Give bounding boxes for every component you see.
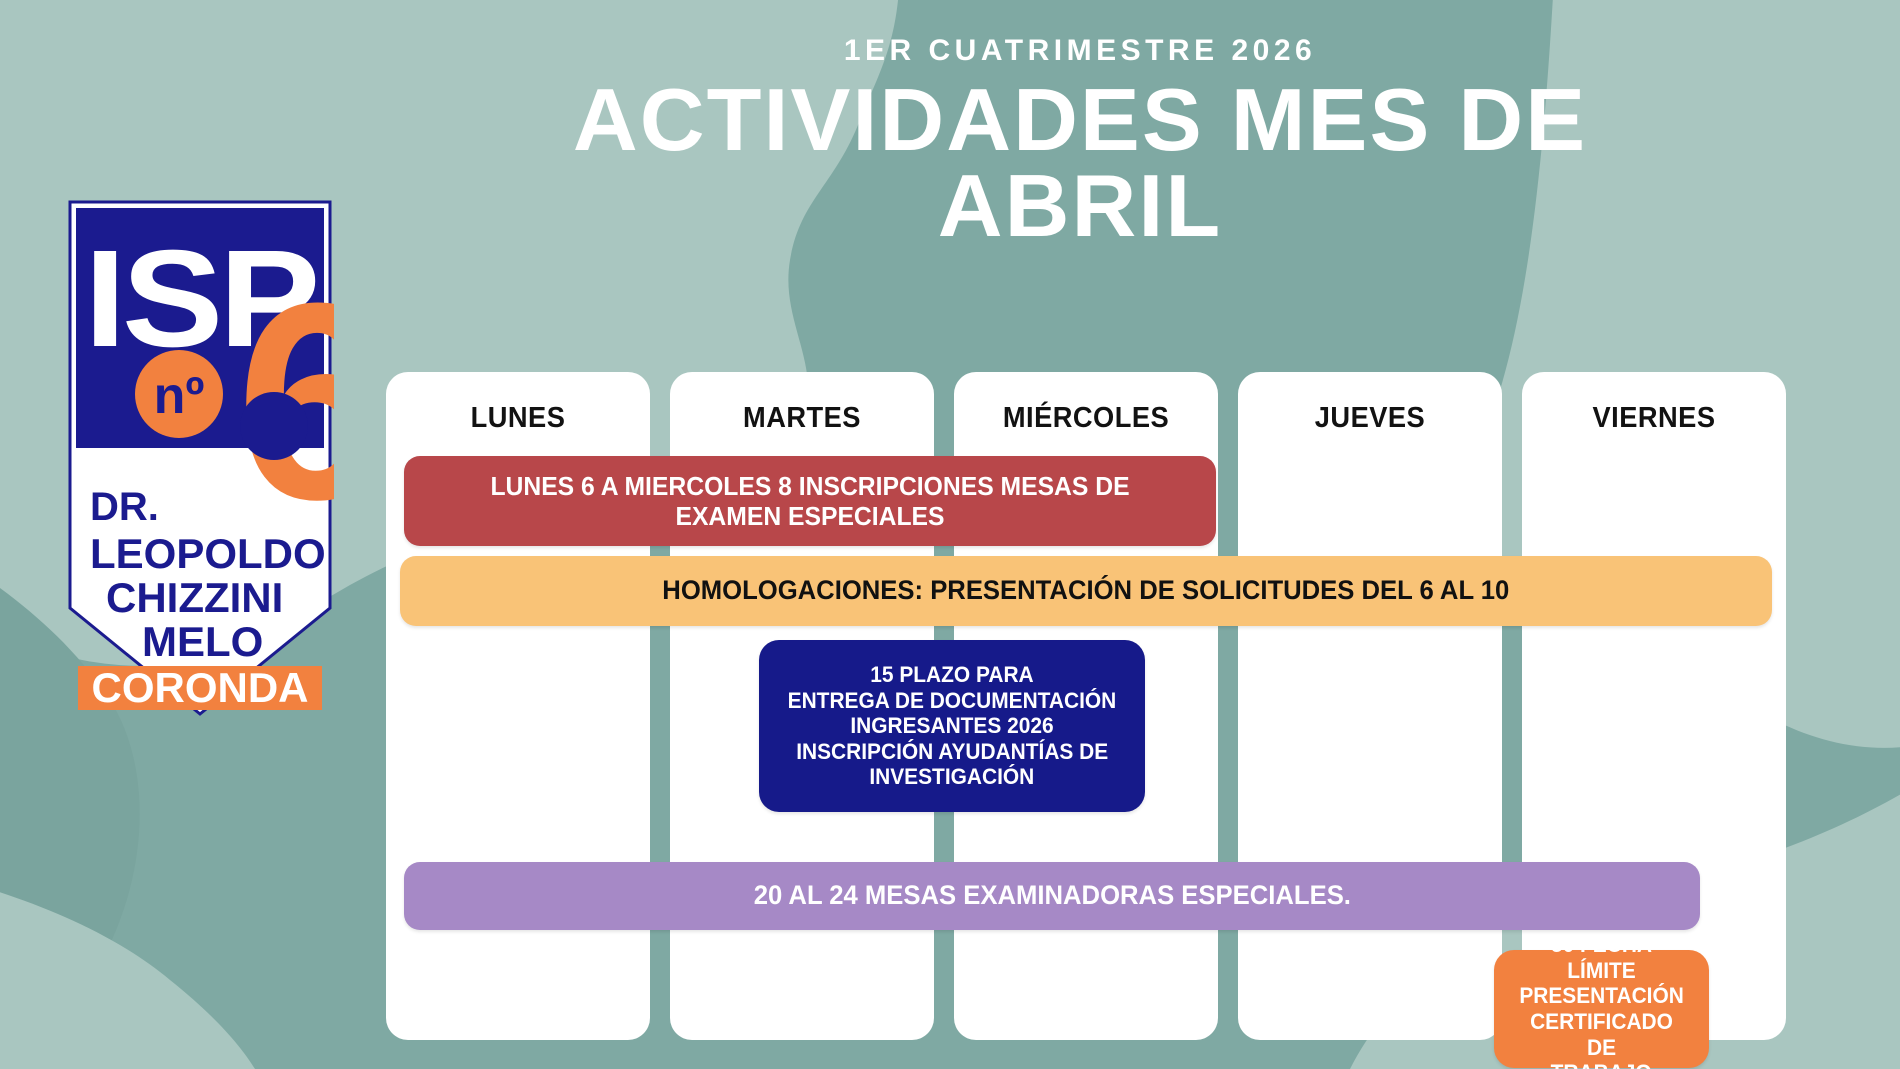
event-inscripciones-mesas-text: LUNES 6 A MIERCOLES 8 INSCRIPCIONES MESA… bbox=[440, 471, 1181, 531]
column-header-jueves: JUEVES bbox=[1246, 402, 1494, 435]
event-plazo-line4: INSCRIPCIÓN AYUDANTÍAS DE bbox=[796, 739, 1108, 765]
page-title: ACTIVIDADES MES DE ABRIL bbox=[468, 77, 1692, 249]
event-plazo-line5: INVESTIGACIÓN bbox=[870, 764, 1035, 790]
column-header-viernes: VIERNES bbox=[1530, 402, 1778, 435]
header-kicker: 1ER CUATRIMESTRE 2026 bbox=[480, 34, 1680, 67]
logo-name-line2: LEOPOLDO bbox=[90, 530, 326, 577]
logo-numero-text: nº bbox=[154, 367, 205, 425]
logo-name-line4: MELO bbox=[142, 618, 263, 665]
event-certificado-line4: TRABAJO bbox=[1551, 1060, 1652, 1069]
poster-header: 1ER CUATRIMESTRE 2026 ACTIVIDADES MES DE… bbox=[480, 34, 1680, 249]
event-plazo-documentacion[interactable]: 15 PLAZO PARA ENTREGA DE DOCUMENTACIÓN I… bbox=[759, 640, 1145, 812]
event-plazo-line3: INGRESANTES 2026 bbox=[850, 713, 1053, 739]
page-title-line1: ACTIVIDADES MES DE bbox=[573, 70, 1587, 169]
institution-logo: ISP nº 6 DR. LEOPOLDO CHIZZINI MELO CORO… bbox=[66, 198, 334, 718]
event-certificado-line3: CERTIFICADO DE bbox=[1515, 1009, 1689, 1060]
logo-six-counter bbox=[240, 392, 308, 460]
event-mesas-examinadoras-text: 20 AL 24 MESAS EXAMINADORAS ESPECIALES. bbox=[753, 880, 1350, 911]
column-header-martes: MARTES bbox=[678, 402, 926, 435]
calendar-column-jueves[interactable]: JUEVES bbox=[1238, 372, 1502, 1040]
event-certificado-line2: PRESENTACIÓN bbox=[1519, 983, 1684, 1009]
event-mesas-examinadoras[interactable]: 20 AL 24 MESAS EXAMINADORAS ESPECIALES. bbox=[404, 862, 1700, 930]
event-homologaciones-text: HOMOLOGACIONES: PRESENTACIÓN DE SOLICITU… bbox=[662, 575, 1509, 606]
column-header-miercoles: MIÉRCOLES bbox=[962, 402, 1210, 435]
logo-name-line1: DR. bbox=[90, 485, 159, 529]
event-plazo-line1: 15 PLAZO PARA bbox=[870, 662, 1033, 688]
column-header-lunes: LUNES bbox=[394, 402, 642, 435]
event-inscripciones-mesas[interactable]: LUNES 6 A MIERCOLES 8 INSCRIPCIONES MESA… bbox=[404, 456, 1216, 546]
poster-canvas: 1ER CUATRIMESTRE 2026 ACTIVIDADES MES DE… bbox=[0, 0, 1900, 1069]
event-certificado-line1: 30 FECHA LÍMITE bbox=[1515, 932, 1689, 983]
calendar: LUNES MARTES MIÉRCOLES JUEVES VIERNES LU… bbox=[386, 372, 1786, 1040]
event-certificado-trabajo[interactable]: 30 FECHA LÍMITE PRESENTACIÓN CERTIFICADO… bbox=[1494, 950, 1709, 1068]
logo-svg: ISP nº 6 DR. LEOPOLDO CHIZZINI MELO CORO… bbox=[66, 198, 334, 718]
page-title-line2: ABRIL bbox=[938, 156, 1222, 255]
logo-name-line3: CHIZZINI bbox=[106, 574, 283, 621]
event-plazo-line2: ENTREGA DE DOCUMENTACIÓN bbox=[788, 688, 1117, 714]
logo-city-text: CORONDA bbox=[92, 664, 309, 711]
event-homologaciones[interactable]: HOMOLOGACIONES: PRESENTACIÓN DE SOLICITU… bbox=[400, 556, 1772, 626]
